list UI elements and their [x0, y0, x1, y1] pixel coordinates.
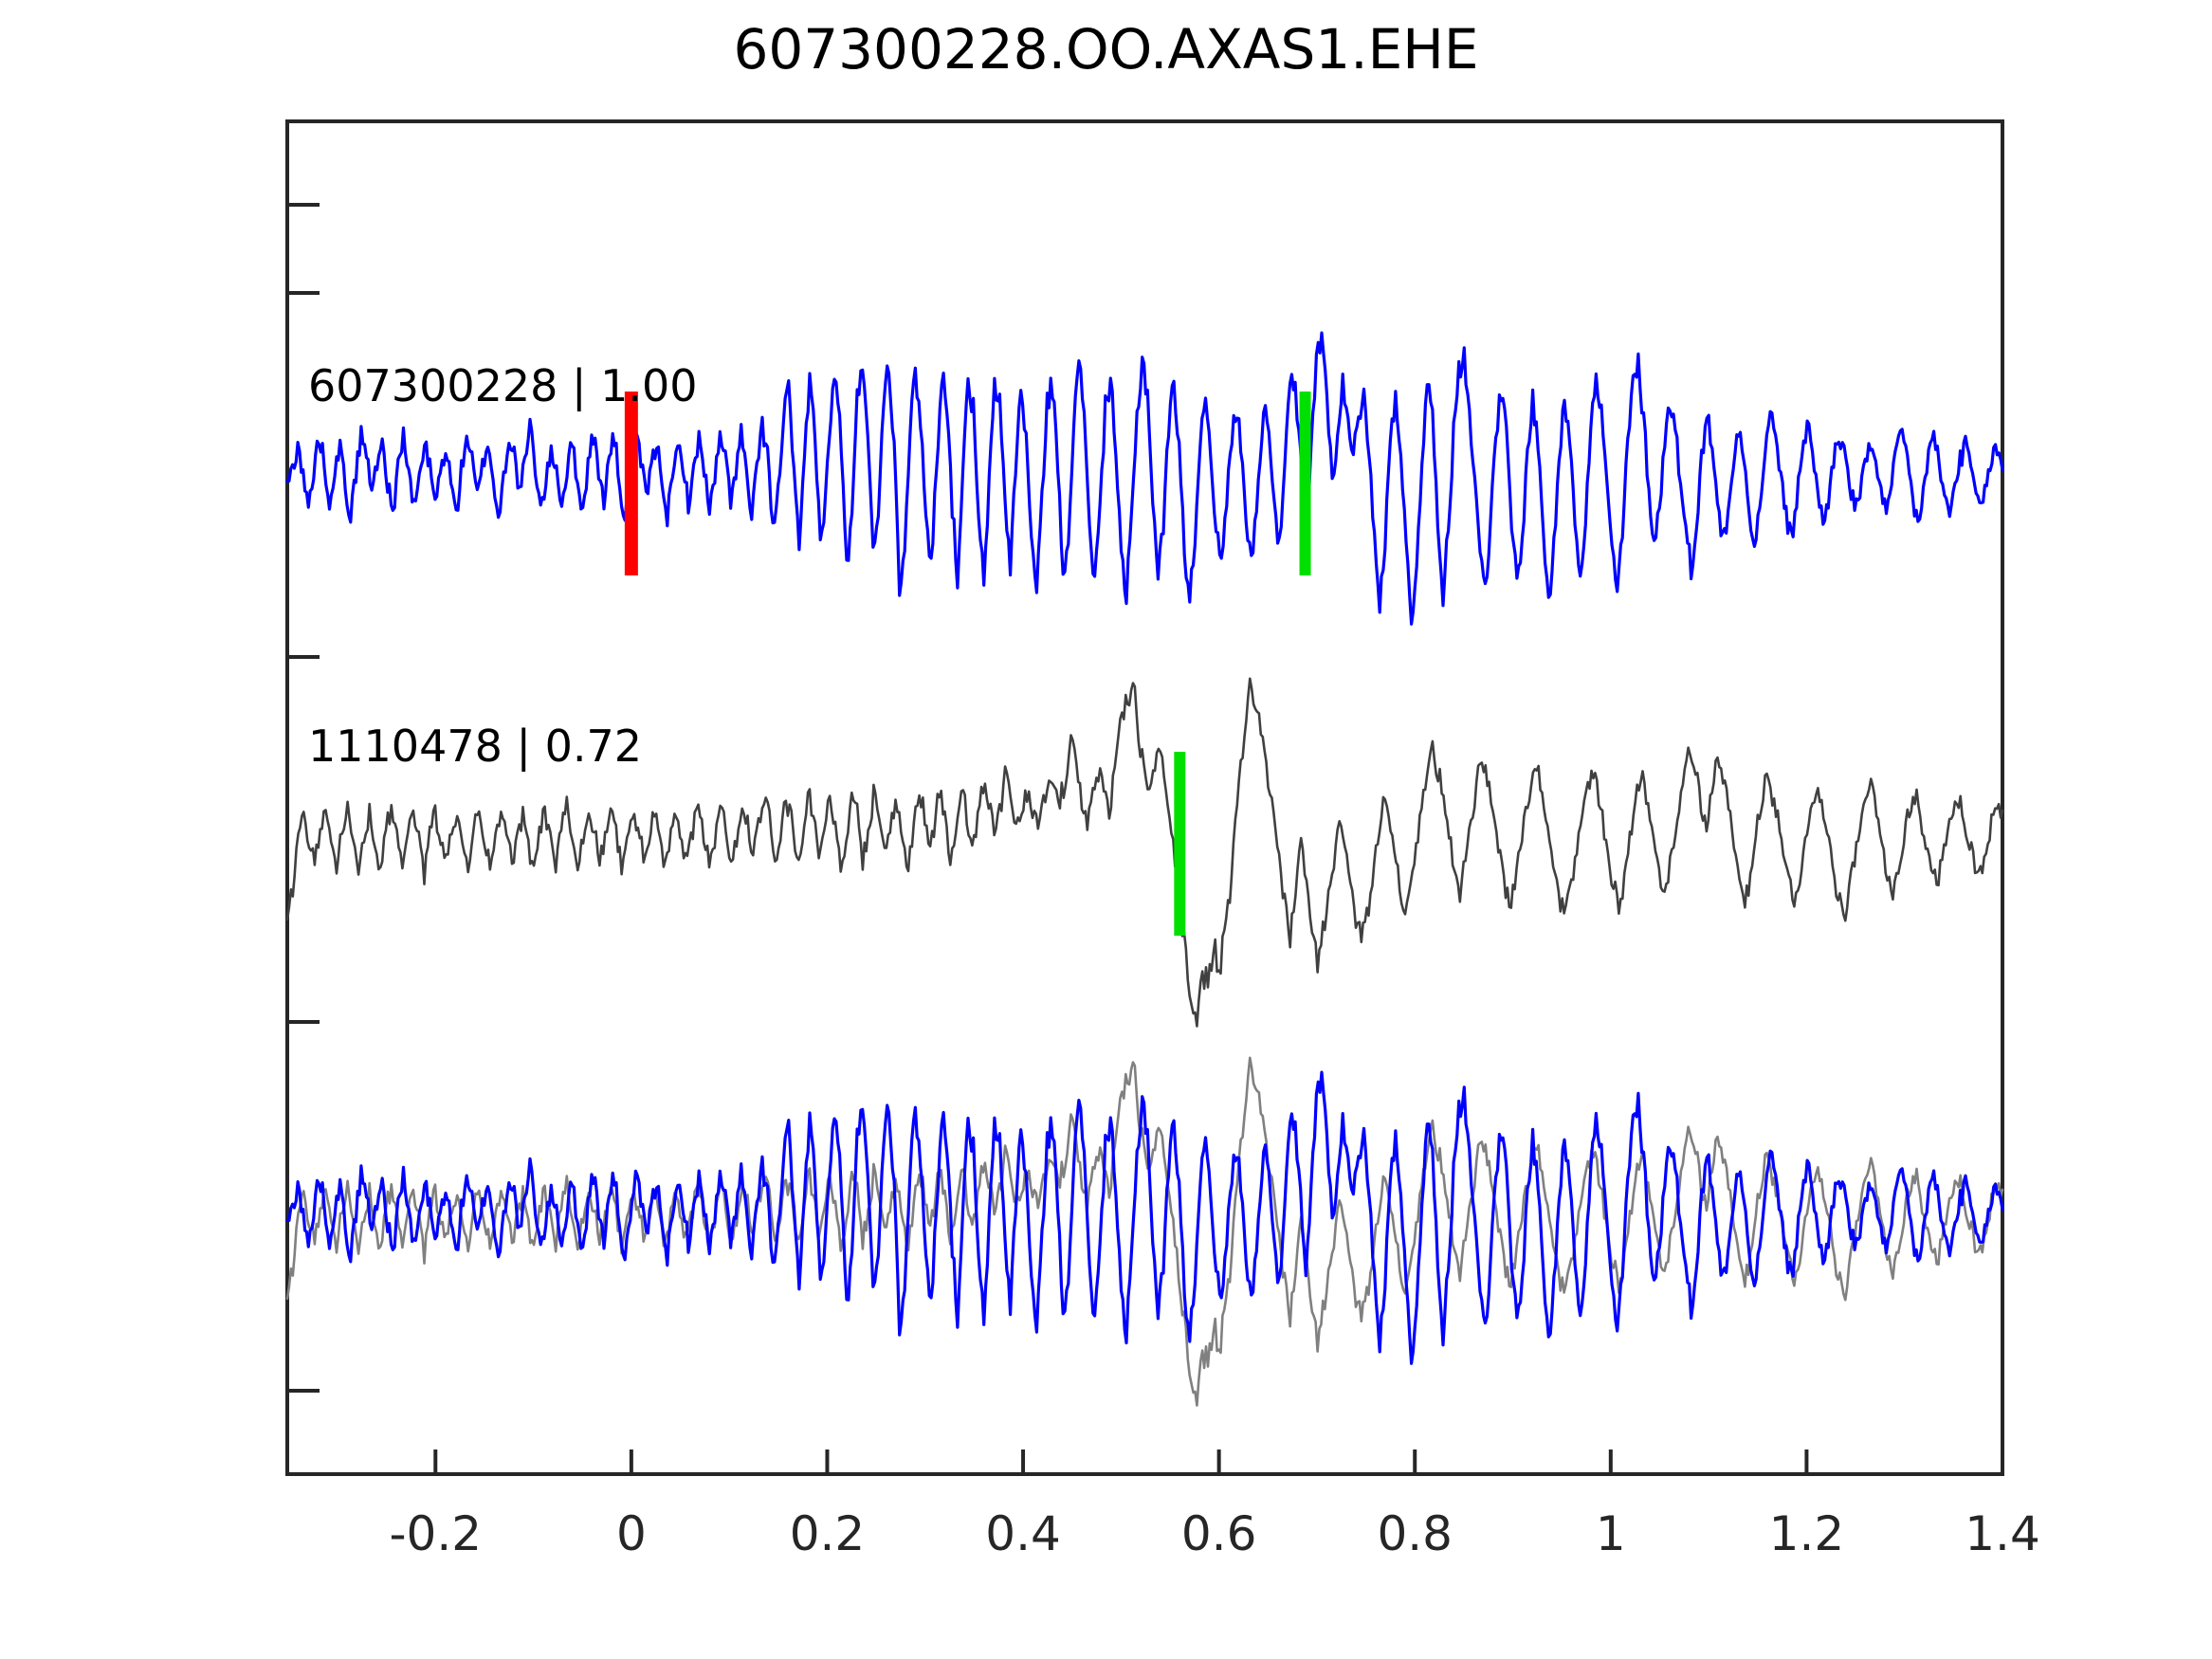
- s-pick-marker-detection: [1174, 752, 1185, 936]
- x-tick-label-1: 0: [616, 1506, 647, 1561]
- x-axis-ticks: [435, 1449, 2002, 1474]
- waveform-lines: [287, 333, 2002, 1405]
- trace-annotation-1: 1110478 | 0.72: [308, 720, 642, 772]
- x-tick-label-2: 0.2: [790, 1506, 866, 1561]
- x-tick-label-7: 1.2: [1769, 1506, 1845, 1561]
- x-tick-label-4: 0.6: [1181, 1506, 1257, 1561]
- x-tick-label-6: 1: [1596, 1506, 1626, 1561]
- trace-annotation-0: 607300228 | 1.00: [308, 360, 698, 411]
- s-pick-marker-template: [1300, 392, 1311, 575]
- seismic-waveform-figure: 607300228.OO.AXAS1.EHE -0.200.20.40.60.8…: [0, 0, 2212, 1659]
- p-pick-marker: [625, 392, 638, 575]
- x-tick-label-3: 0.4: [985, 1506, 1061, 1561]
- x-tick-label-0: -0.2: [390, 1506, 483, 1561]
- overlay-trace-blue: [287, 1072, 2002, 1363]
- waveform-plot-canvas: [0, 0, 2212, 1659]
- x-tick-label-5: 0.8: [1377, 1506, 1453, 1561]
- x-tick-label-8: 1.4: [1965, 1506, 2040, 1561]
